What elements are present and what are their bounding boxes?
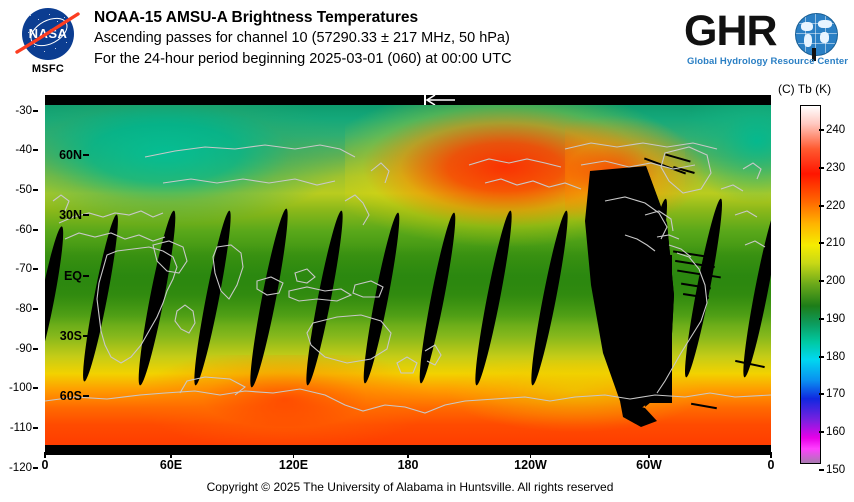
map-panel: [45, 95, 771, 455]
page-title: NOAA-15 AMSU-A Brightness Temperatures: [94, 8, 674, 28]
lat-tick-30s: 30S: [60, 329, 82, 343]
lat-tick-eq: EQ: [64, 269, 82, 283]
colorbar-header: (C) Tb (K): [778, 82, 831, 96]
period-subtitle: For the 24-hour period beginning 2025-03…: [94, 49, 674, 70]
lon-tick-180: 180: [383, 458, 433, 472]
title-block: NOAA-15 AMSU-A Brightness Temperatures A…: [94, 8, 674, 70]
visualization-page: NASA MSFC NOAA-15 AMSU-A Brightness Temp…: [0, 0, 854, 502]
colorbar-k-tick-150: 150: [826, 464, 845, 476]
lat-tick-60s: 60S: [60, 389, 82, 403]
nasa-logo: NASA MSFC: [10, 6, 86, 80]
colorbar-c-tick-110: -110: [10, 422, 32, 434]
colorbar-gradient: [801, 106, 820, 463]
colorbar-k-tick-220: 220: [826, 200, 845, 212]
colorbar-k-tick-200: 200: [826, 275, 845, 287]
lon-tick-120w: 120W: [503, 458, 558, 472]
colorbar-k-tick-160: 160: [826, 426, 845, 438]
ghrc-wordmark: GHR: [684, 8, 777, 54]
colorbar-c-tick-30: -30: [15, 105, 32, 117]
colorbar-c-tick-90: -90: [15, 343, 32, 355]
colorbar-k-tick-190: 190: [826, 313, 845, 325]
colorbar: [800, 105, 821, 464]
colorbar-k-tick-180: 180: [826, 351, 845, 363]
brightness-temperature-heatmap: [45, 105, 771, 445]
colorbar-c-tick-120: -120: [9, 462, 32, 474]
left-arrow-marker-icon: [411, 94, 461, 105]
colorbar-k-tick-230: 230: [826, 162, 845, 174]
ghrc-logo: GHR Global Hydrology Resource Center: [684, 8, 850, 74]
colorbar-k-tick-240: 240: [826, 124, 845, 136]
ghrc-tagline: Global Hydrology Resource Center: [687, 56, 848, 67]
copyright-notice: Copyright © 2025 The University of Alaba…: [0, 480, 820, 494]
colorbar-c-tick-40: -40: [15, 144, 32, 156]
channel-subtitle: Ascending passes for channel 10 (57290.3…: [94, 28, 674, 49]
nasa-swoosh-icon: [12, 12, 84, 56]
nasa-center-label: MSFC: [10, 63, 86, 75]
colorbar-c-tick-60: -60: [15, 224, 32, 236]
colorbar-c-tick-70: -70: [15, 263, 32, 275]
lon-tick-120e: 120E: [266, 458, 321, 472]
colorbar-c-tick-100: -100: [9, 382, 32, 394]
lon-tick-60e: 60E: [146, 458, 196, 472]
lon-tick-0b: 0: [751, 458, 791, 472]
lat-tick-30n: 30N: [59, 208, 82, 222]
lon-tick-60w: 60W: [624, 458, 674, 472]
colorbar-c-tick-80: -80: [15, 303, 32, 315]
colorbar-c-tick-50: -50: [15, 184, 32, 196]
colorbar-k-tick-170: 170: [826, 388, 845, 400]
coastline-overlay: [45, 105, 771, 445]
colorbar-k-tick-210: 210: [826, 237, 845, 249]
lat-tick-60n: 60N: [59, 148, 82, 162]
globe-icon: [795, 13, 838, 56]
